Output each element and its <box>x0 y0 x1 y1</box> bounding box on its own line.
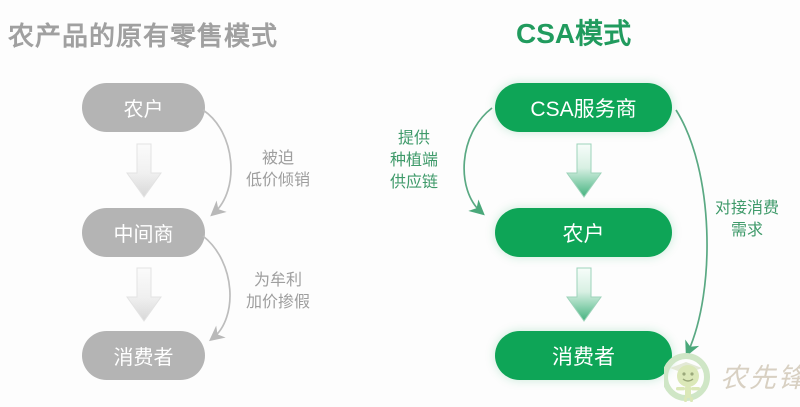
arrow-farmer-to-consumer-icon <box>565 267 603 323</box>
flow-note-markup-adulteration: 为牟利 加价掺假 <box>246 270 310 314</box>
watermark-text: 农先锋 <box>720 356 800 395</box>
arrow-csa-to-farmer-icon <box>565 143 603 199</box>
node-label: 农户 <box>124 93 164 122</box>
note-line: 需求 <box>715 220 779 242</box>
node-farmer-csa[interactable]: 农户 <box>495 208 672 257</box>
node-middleman-old[interactable]: 中间商 <box>82 208 205 257</box>
mascot-graduate-icon <box>664 352 720 402</box>
flow-note-forced-dumping: 被迫 低价倾销 <box>246 148 310 192</box>
flow-note-supply-chain: 提供 种植端 供应链 <box>390 128 438 194</box>
node-farmer-old[interactable]: 农户 <box>82 83 205 132</box>
node-label: 消费者 <box>114 341 174 370</box>
node-label: CSA服务商 <box>530 93 636 123</box>
watermark: 农先锋 <box>664 352 800 402</box>
diagram-canvas: 农产品的原有零售模式 农户 中间商 消费者 <box>0 0 800 404</box>
note-line: 被迫 <box>246 148 310 170</box>
node-consumer-old[interactable]: 消费者 <box>82 331 205 380</box>
note-line: 种植端 <box>390 150 438 172</box>
left-panel-title: 农产品的原有零售模式 <box>8 16 278 53</box>
right-panel-title: CSA模式 <box>516 12 631 52</box>
node-label: 中间商 <box>114 218 174 247</box>
note-line: 提供 <box>390 128 438 150</box>
node-csa-provider[interactable]: CSA服务商 <box>495 83 672 132</box>
note-line: 为牟利 <box>246 270 310 292</box>
note-line: 加价掺假 <box>246 292 310 314</box>
arrow-farmer-to-middleman-icon <box>125 143 163 199</box>
node-label: 农户 <box>563 218 605 248</box>
note-line: 低价倾销 <box>246 170 310 192</box>
arrow-middleman-to-consumer-icon <box>125 267 163 323</box>
node-consumer-csa[interactable]: 消费者 <box>495 331 672 380</box>
note-line: 供应链 <box>390 172 438 194</box>
note-line: 对接消费 <box>715 198 779 220</box>
node-label: 消费者 <box>552 341 615 371</box>
flow-note-demand-matching: 对接消费 需求 <box>715 198 779 242</box>
